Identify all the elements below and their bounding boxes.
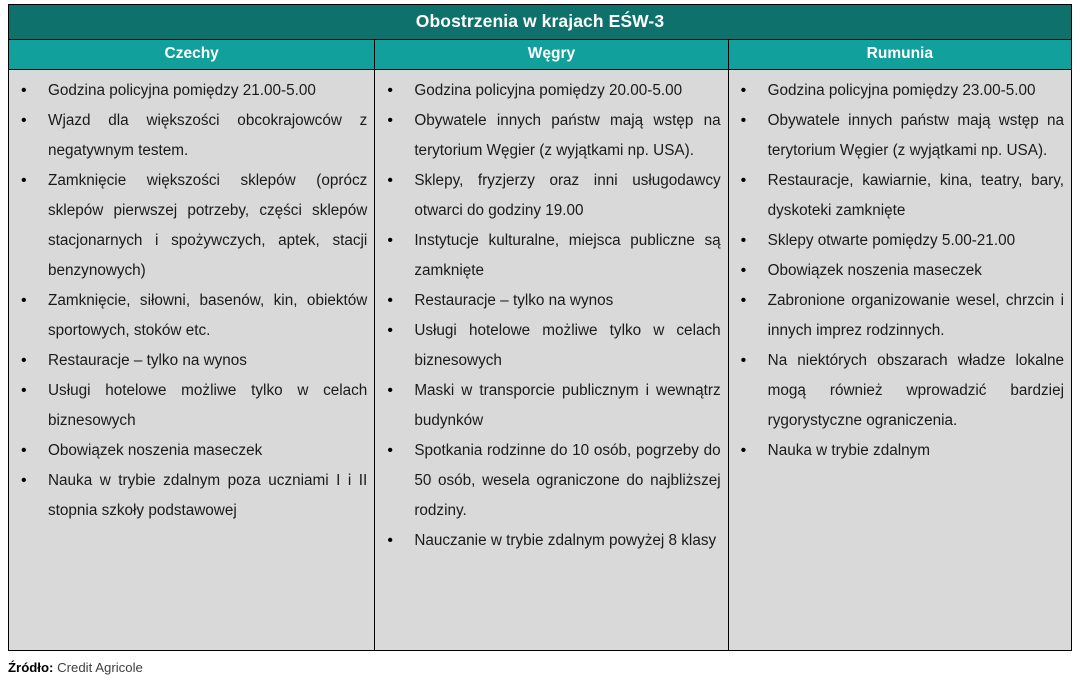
list-item: Zamknięcie, siłowni, basenów, kin, obiek… (15, 286, 367, 346)
list-item: Nauka w trybie zdalnym poza uczniami I i… (15, 466, 367, 526)
list-item: Sklepy otwarte pomiędzy 5.00-21.00 (735, 226, 1064, 256)
column-cell-rumunia: Godzina policyjna pomiędzy 23.00-5.00 Ob… (728, 70, 1071, 650)
restrictions-list-rumunia: Godzina policyjna pomiędzy 23.00-5.00 Ob… (735, 76, 1064, 466)
column-header-czechy: Czechy (9, 40, 374, 69)
restrictions-list-wegry: Godzina policyjna pomiędzy 20.00-5.00 Ob… (381, 76, 720, 556)
restrictions-list-czechy: Godzina policyjna pomiędzy 21.00-5.00 Wj… (15, 76, 367, 526)
list-item: Zamknięcie większości sklepów (oprócz sk… (15, 166, 367, 286)
table-body-row: Godzina policyjna pomiędzy 21.00-5.00 Wj… (9, 70, 1071, 650)
list-item: Godzina policyjna pomiędzy 23.00-5.00 (735, 76, 1064, 106)
table-header-row: Czechy Węgry Rumunia (9, 40, 1071, 70)
column-header-rumunia: Rumunia (728, 40, 1071, 69)
list-item: Nauczanie w trybie zdalnym powyżej 8 kla… (381, 526, 720, 556)
list-item: Maski w transporcie publicznym i wewnątr… (381, 376, 720, 436)
list-item: Restauracje – tylko na wynos (381, 286, 720, 316)
list-item: Wjazd dla większości obcokrajowców z neg… (15, 106, 367, 166)
screenshot-root: Obostrzenia w krajach EŚW-3 Czechy Węgry… (0, 0, 1080, 684)
source-label: Źródło: (8, 660, 53, 675)
list-item: Sklepy, fryzjerzy oraz inni usługodawcy … (381, 166, 720, 226)
list-item: Godzina policyjna pomiędzy 21.00-5.00 (15, 76, 367, 106)
list-item: Spotkania rodzinne do 10 osób, pogrzeby … (381, 436, 720, 526)
column-cell-wegry: Godzina policyjna pomiędzy 20.00-5.00 Ob… (374, 70, 727, 650)
source-value: Credit Agricole (57, 660, 143, 675)
list-item: Instytucje kulturalne, miejsca publiczne… (381, 226, 720, 286)
list-item: Restauracje – tylko na wynos (15, 346, 367, 376)
table-title: Obostrzenia w krajach EŚW-3 (9, 5, 1071, 40)
list-item: Zabronione organizowanie wesel, chrzcin … (735, 286, 1064, 346)
restrictions-table: Obostrzenia w krajach EŚW-3 Czechy Węgry… (8, 4, 1072, 651)
column-header-wegry: Węgry (374, 40, 727, 69)
list-item: Usługi hotelowe możliwe tylko w celach b… (381, 316, 720, 376)
list-item: Restauracje, kawiarnie, kina, teatry, ba… (735, 166, 1064, 226)
column-cell-czechy: Godzina policyjna pomiędzy 21.00-5.00 Wj… (9, 70, 374, 650)
list-item: Obywatele innych państw mają wstęp na te… (735, 106, 1064, 166)
list-item: Nauka w trybie zdalnym (735, 436, 1064, 466)
list-item: Obowiązek noszenia maseczek (735, 256, 1064, 286)
list-item: Na niektórych obszarach władze lokalne m… (735, 346, 1064, 436)
list-item: Godzina policyjna pomiędzy 20.00-5.00 (381, 76, 720, 106)
list-item: Obywatele innych państw mają wstęp na te… (381, 106, 720, 166)
list-item: Obowiązek noszenia maseczek (15, 436, 367, 466)
source-caption: Źródło: Credit Agricole (8, 660, 143, 675)
list-item: Usługi hotelowe możliwe tylko w celach b… (15, 376, 367, 436)
